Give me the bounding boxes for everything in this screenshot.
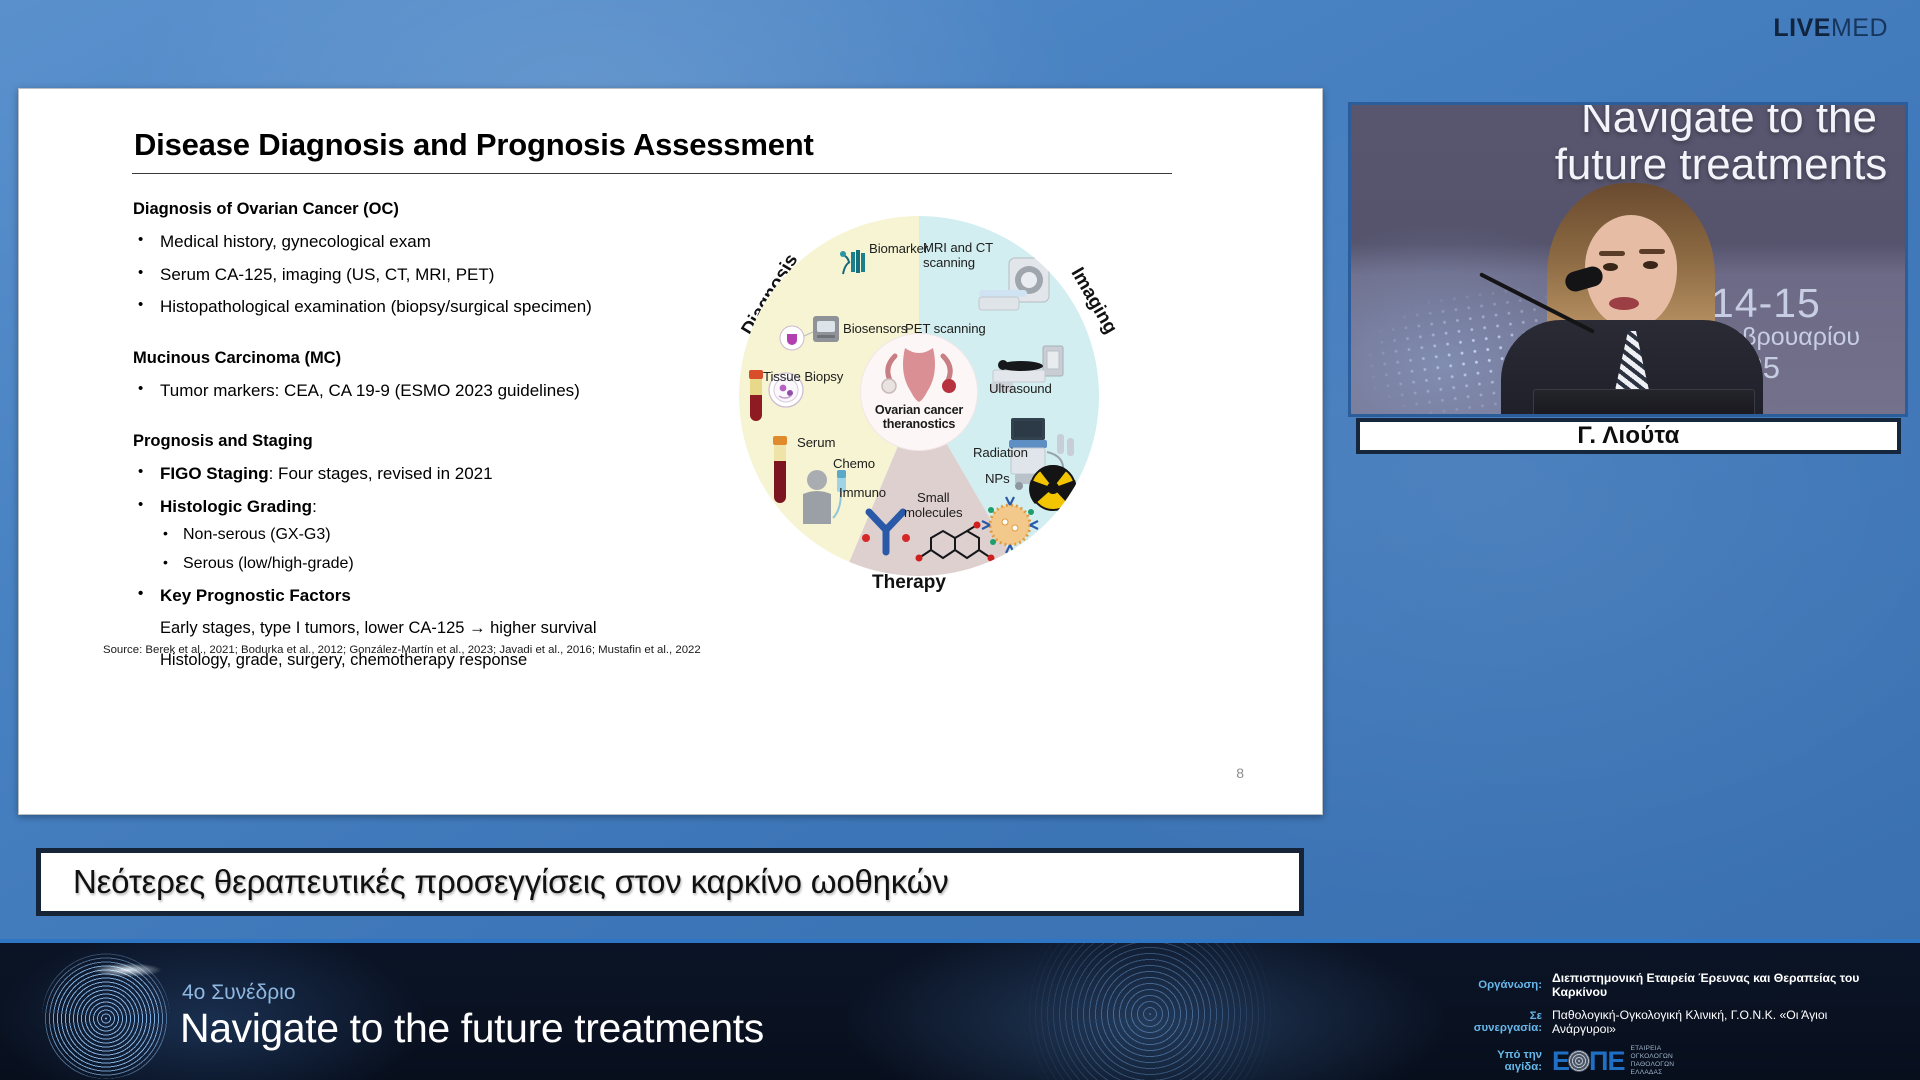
label-mri-ct: MRI and CT scanning xyxy=(923,240,993,270)
eope-ring-icon xyxy=(1568,1050,1590,1072)
label-small-line1: Small xyxy=(917,490,949,505)
list-item-key-factors: Key Prognostic Factors xyxy=(133,586,773,606)
histologic-label: Histologic Grading xyxy=(160,497,312,516)
sub-bullet-list-grading: Non-serous (GX-G3) Serous (low/high-grad… xyxy=(133,526,773,573)
list-item: Serum CA-125, imaging (US, CT, MRI, PET) xyxy=(133,265,773,285)
key-factor-line-1: Early stages, type I tumors, lower CA-12… xyxy=(133,619,773,638)
figo-detail: : Four stages, revised in 2021 xyxy=(269,464,493,483)
bullet-list-diagnosis: Medical history, gynecological exam Seru… xyxy=(133,232,773,317)
backdrop-date-day: 14-15 xyxy=(1711,283,1901,324)
presentation-title-bar: Νεότερες θεραπευτικές προσεγγίσεις στον … xyxy=(36,848,1304,916)
list-item-figo: FIGO Staging: Four stages, revised in 20… xyxy=(133,464,773,484)
backdrop-title: Navigate to the future treatments xyxy=(1529,102,1908,188)
eope-mark-e: E xyxy=(1552,1048,1569,1075)
speaker-nameplate: Γ. Λιούτα xyxy=(1356,418,1901,454)
livemed-logo-light: MED xyxy=(1831,14,1888,42)
label-radiation: Radiation xyxy=(973,446,1028,461)
title-divider xyxy=(132,173,1172,174)
list-item: Non-serous (GX-G3) xyxy=(133,526,773,544)
section-heading-diagnosis: Diagnosis of Ovarian Cancer (OC) xyxy=(133,200,773,219)
label-serum: Serum xyxy=(797,436,835,451)
label-chemo: Chemo xyxy=(833,457,875,472)
eope-text-line4: ΕΛΛΑΔΑΣ xyxy=(1631,1069,1675,1077)
credit-value-organizer: Διεπιστημονική Εταιρεία Έρευνας και Θερα… xyxy=(1552,971,1890,999)
credit-row-collaboration: Σε συνεργασία: Παθολογική-Ογκολογική Κλι… xyxy=(1460,1008,1890,1036)
radiation-icon xyxy=(1029,464,1077,512)
credit-value-collaboration: Παθολογική-Ογκολογική Κλινική, Γ.Ο.Ν.Κ. … xyxy=(1552,1008,1890,1036)
section-heading-prognosis: Prognosis and Staging xyxy=(133,432,773,451)
list-item: Histopathological examination (biopsy/su… xyxy=(133,297,773,317)
congress-edition: 4ο Συνέδριο xyxy=(182,981,296,1005)
slide-panel[interactable]: Disease Diagnosis and Prognosis Assessme… xyxy=(18,88,1323,815)
label-mri-ct-line2: scanning xyxy=(923,255,975,270)
label-small-line2: molecules xyxy=(904,505,962,520)
credit-row-auspices: Υπό την αιγίδα: E ΠΕ ΕΤΑΙΡΕΙΑ ΟΓΚΟΛΟΓΩΝ … xyxy=(1460,1045,1890,1077)
credit-label-organizer: Οργάνωση: xyxy=(1460,979,1552,991)
eope-mark-pe: ΠΕ xyxy=(1589,1048,1625,1075)
bullet-list-key-factors: Key Prognostic Factors xyxy=(133,586,773,606)
list-item: Medical history, gynecological exam xyxy=(133,232,773,252)
eope-text-line1: ΕΤΑΙΡΕΙΑ xyxy=(1631,1045,1675,1053)
slide-source-citation: Source: Berek et al., 2021; Bodurka et a… xyxy=(103,644,701,656)
webinar-viewer: LIVEMED Disease Diagnosis and Prognosis … xyxy=(0,0,1920,1080)
list-item: Tumor markers: CEA, CA 19-9 (ESMO 2023 g… xyxy=(133,381,773,401)
credit-row-organizer: Οργάνωση: Διεπιστημονική Εταιρεία Έρευνα… xyxy=(1460,971,1890,999)
label-nps: NPs xyxy=(985,472,1010,487)
bullet-list-mucinous: Tumor markers: CEA, CA 19-9 (ESMO 2023 g… xyxy=(133,381,773,401)
slide-content: Disease Diagnosis and Prognosis Assessme… xyxy=(19,89,1322,814)
label-biosensors: Biosensors xyxy=(843,322,907,337)
eope-text-line2: ΟΓΚΟΛΟΓΩΝ xyxy=(1631,1053,1675,1061)
footer-ring-graphic xyxy=(1000,939,1300,1080)
hub-label-line2: theranostics xyxy=(883,417,956,431)
uterus-icon xyxy=(871,340,967,414)
label-small-molecules: Small molecules xyxy=(904,490,962,520)
bullet-list-prognosis: FIGO Staging: Four stages, revised in 20… xyxy=(133,464,773,516)
histologic-detail: : xyxy=(312,497,317,516)
backdrop-title-line1: Navigate to the xyxy=(1581,102,1877,142)
eope-logo: E ΠΕ ΕΤΑΙΡΕΙΑ ΟΓΚΟΛΟΓΩΝ ΠΑΘΟΛΟΓΩΝ ΕΛΛΑΔΑ… xyxy=(1552,1045,1674,1077)
eope-logo-text: ΕΤΑΙΡΕΙΑ ΟΓΚΟΛΟΓΩΝ ΠΑΘΟΛΟΓΩΝ ΕΛΛΑΔΑΣ xyxy=(1631,1045,1675,1077)
presentation-title: Νεότερες θεραπευτικές προσεγγίσεις στον … xyxy=(73,863,949,901)
speaker-video[interactable]: Navigate to the future treatments 14-15 … xyxy=(1348,102,1908,417)
label-immuno: Immuno xyxy=(839,486,886,501)
slide-page-number: 8 xyxy=(1236,765,1244,781)
backdrop-title-line2: future treatments xyxy=(1513,142,1908,189)
section-heading-mucinous: Mucinous Carcinoma (MC) xyxy=(133,349,773,368)
eope-text-line3: ΠΑΘΟΛΟΓΩΝ xyxy=(1631,1061,1675,1069)
laptop xyxy=(1533,389,1755,417)
speaker-name: Γ. Λιούτα xyxy=(1577,422,1679,450)
serum-icon xyxy=(767,434,793,508)
list-item-histologic: Histologic Grading: xyxy=(133,497,773,517)
list-item: Serous (low/high-grade) xyxy=(133,555,773,573)
credit-label-auspices: Υπό την αιγίδα: xyxy=(1460,1049,1552,1073)
footer-credits: Οργάνωση: Διεπιστημονική Εταιρεία Έρευνα… xyxy=(1460,971,1890,1080)
eope-logo-mark: E ΠΕ xyxy=(1552,1048,1625,1075)
label-pet: PET scanning xyxy=(905,322,986,337)
label-ultrasound: Ultrasound xyxy=(989,382,1052,397)
slide-title: Disease Diagnosis and Prognosis Assessme… xyxy=(134,127,1292,163)
logo-flare xyxy=(92,963,162,977)
livemed-logo: LIVEMED xyxy=(1773,16,1888,41)
congress-title: Navigate to the future treatments xyxy=(180,1005,764,1052)
credit-label-collaboration: Σε συνεργασία: xyxy=(1460,1010,1552,1034)
slide-text-column: Diagnosis of Ovarian Cancer (OC) Medical… xyxy=(133,200,773,670)
event-footer: 4ο Συνέδριο Navigate to the future treat… xyxy=(0,939,1920,1080)
speaker-brow-right xyxy=(1639,249,1665,254)
biosensor-icon xyxy=(779,312,841,352)
label-mri-ct-line1: MRI and CT xyxy=(923,240,993,255)
theranostics-diagram: Diagnosis Imaging Therapy xyxy=(739,204,1109,604)
livemed-logo-bold: LIVE xyxy=(1773,14,1831,42)
speaker-eye-left xyxy=(1603,263,1618,271)
label-tissue-biopsy: Tissue Biopsy xyxy=(763,370,843,385)
figo-label: FIGO Staging xyxy=(160,464,269,483)
diagram-hub: Ovarian cancer theranostics xyxy=(860,333,978,451)
speaker-mouth xyxy=(1609,297,1639,310)
speaker-brow-left xyxy=(1599,251,1625,256)
label-biomarker: Biomarker xyxy=(869,242,928,257)
speaker-eye-right xyxy=(1643,261,1658,269)
